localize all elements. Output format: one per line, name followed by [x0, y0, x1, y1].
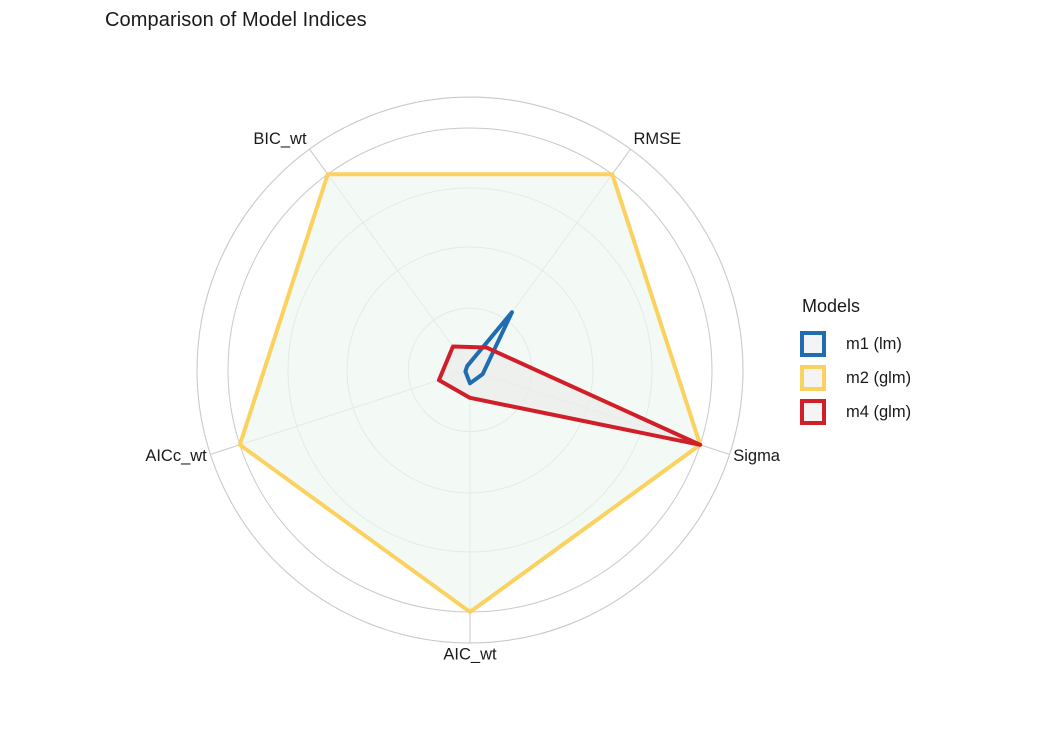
- legend-item[interactable]: m2 (glm): [800, 361, 1030, 395]
- legend: Models m1 (lm)m2 (glm)m4 (glm): [800, 296, 1030, 429]
- legend-title: Models: [802, 296, 1030, 317]
- plot-panel: RMSESigmaAIC_wtAICc_wtBIC_wt: [0, 40, 790, 740]
- legend-color-swatch: [800, 365, 826, 391]
- legend-color-swatch: [800, 331, 826, 357]
- radar-chart-page: Comparison of Model Indices RMSESigmaAIC…: [0, 0, 1050, 750]
- series-fill-layer: [240, 174, 700, 612]
- legend-item[interactable]: m4 (glm): [800, 395, 1030, 429]
- axis-label-sigma: Sigma: [733, 447, 781, 465]
- axis-label-aicc-wt: AICc_wt: [145, 447, 207, 465]
- page-title: Comparison of Model Indices: [105, 9, 367, 32]
- legend-item-list: m1 (lm)m2 (glm)m4 (glm): [800, 327, 1030, 429]
- legend-color-swatch: [800, 399, 826, 425]
- axis-label-aic-wt: AIC_wt: [443, 646, 497, 664]
- radar-plot: RMSESigmaAIC_wtAICc_wtBIC_wt: [0, 40, 790, 740]
- axis-label-bic-wt: BIC_wt: [253, 130, 307, 148]
- axis-label-rmse: RMSE: [633, 130, 681, 148]
- legend-item-label: m2 (glm): [846, 369, 911, 388]
- legend-item-label: m1 (lm): [846, 335, 902, 354]
- legend-item-label: m4 (glm): [846, 403, 911, 422]
- legend-item[interactable]: m1 (lm): [800, 327, 1030, 361]
